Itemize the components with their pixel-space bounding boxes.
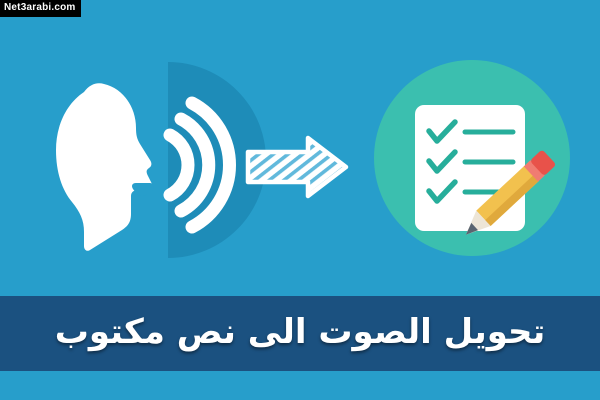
document-icon-group — [374, 60, 570, 256]
artwork-stage — [0, 0, 600, 296]
watermark-label: Net3arabi.com — [0, 0, 81, 17]
caption-banner: تحويل الصوت الى نص مكتوب — [0, 296, 600, 371]
artwork-illustration — [0, 0, 600, 296]
mouth-opening — [132, 183, 154, 196]
speech-icon-group — [56, 62, 266, 258]
bottom-background-strip — [0, 371, 600, 400]
head-silhouette — [56, 83, 153, 251]
poster-canvas: Net3arabi.com — [0, 0, 600, 400]
caption-title: تحويل الصوت الى نص مكتوب — [55, 315, 546, 352]
